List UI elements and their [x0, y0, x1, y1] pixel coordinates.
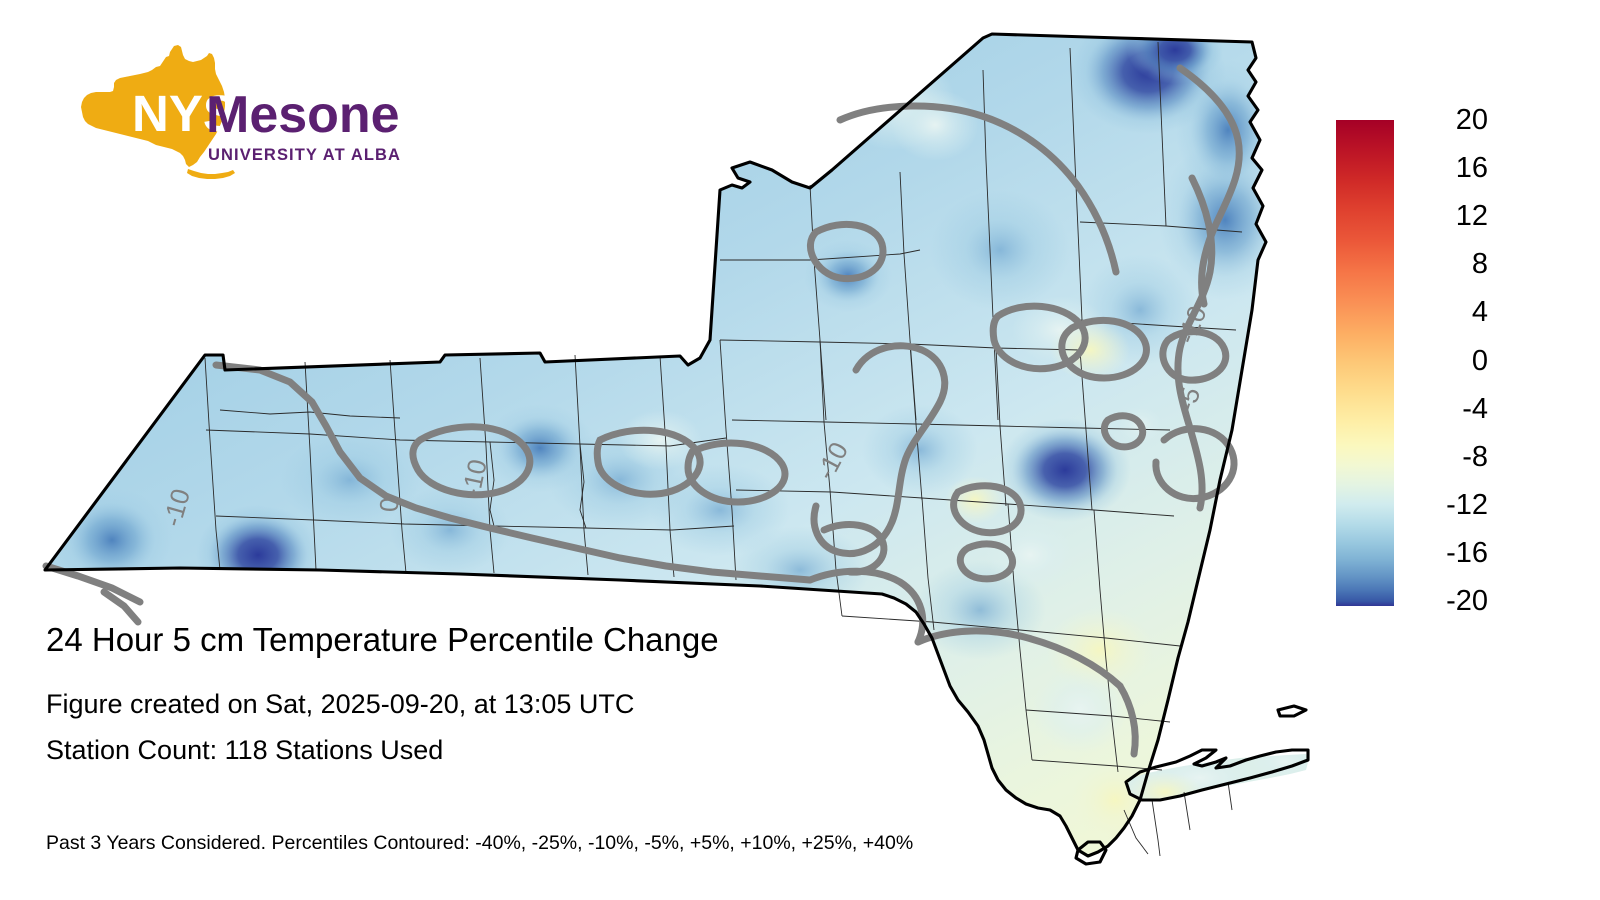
temperature-percentile-colorbar: [1336, 120, 1394, 606]
colorbar-tick-labels: 20 16 12 8 4 0 -4 -8 -12 -16 -20: [1404, 104, 1488, 624]
contour-levels-footnote: Past 3 Years Considered. Percentiles Con…: [46, 831, 913, 855]
colorbar-tick: 12: [1408, 202, 1488, 231]
page-title: 24 Hour 5 cm Temperature Percentile Chan…: [46, 620, 1166, 660]
station-count-text: Station Count: 118 Stations Used: [46, 734, 1166, 767]
colorbar-tick: -12: [1408, 491, 1488, 520]
colorbar-tick: 20: [1408, 106, 1488, 135]
colorbar-tick: 16: [1408, 154, 1488, 183]
figure-caption-block: 24 Hour 5 cm Temperature Percentile Chan…: [46, 620, 1166, 767]
colorbar-tick: -20: [1408, 587, 1488, 616]
colorbar-tick: -4: [1408, 395, 1488, 424]
colorbar-tick: -16: [1408, 539, 1488, 568]
figure-canvas: NYS Mesonet UNIVERSITY AT ALBANY: [0, 0, 1600, 900]
offshore-island-outline: [1278, 706, 1306, 716]
colorbar-tick: 4: [1408, 298, 1488, 327]
contour-label: 0: [374, 497, 404, 513]
figure-created-timestamp: Figure created on Sat, 2025-09-20, at 13…: [46, 688, 1166, 721]
colorbar-tick: 0: [1408, 347, 1488, 376]
colorbar-tick: 8: [1408, 250, 1488, 279]
colorbar-tick: -8: [1408, 443, 1488, 472]
